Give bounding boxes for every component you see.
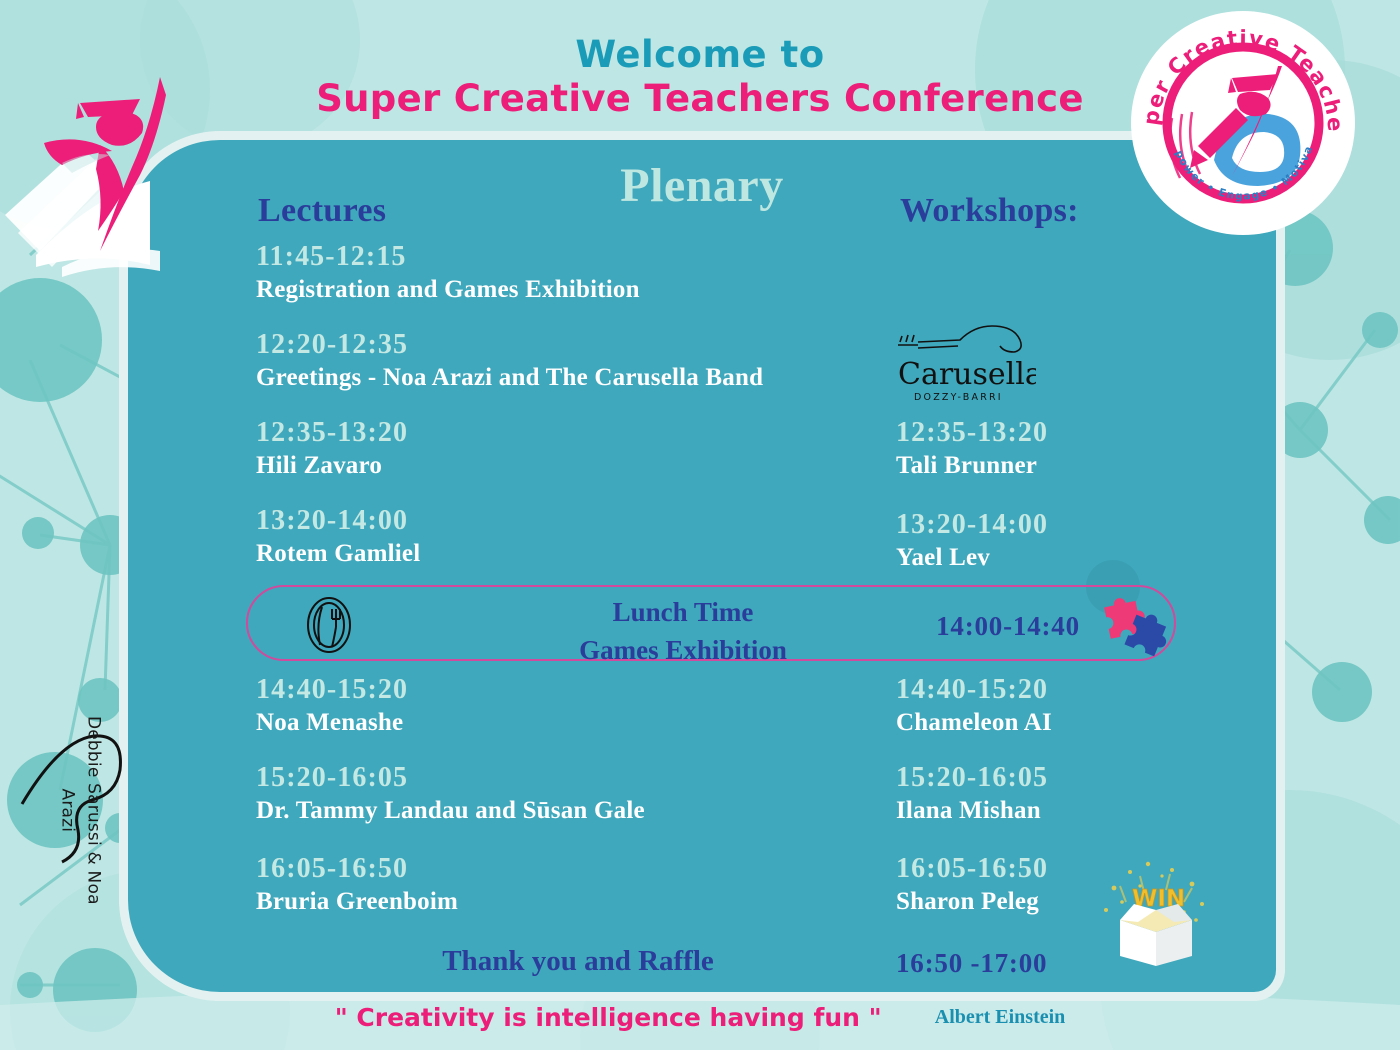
- lecture-row: 13:20-14:00 Rotem Gamliel: [256, 504, 896, 569]
- lecture-time: 15:20-16:05: [256, 761, 896, 795]
- lecture-row: 15:20-16:05 Dr. Tammy Landau and Sūsan G…: [256, 761, 896, 826]
- lecture-title: Noa Menashe: [256, 707, 896, 738]
- workshop-title: Chameleon AI: [896, 707, 1226, 738]
- lectures-column-header: Lectures: [258, 192, 386, 230]
- einstein-quote: " Creativity is intelligence having fun …: [335, 1003, 882, 1032]
- workshop-time: 13:20-14:00: [896, 508, 1226, 542]
- carusella-band-logo: Carusella DOZZY-BARRI: [896, 318, 1196, 413]
- lunch-line-1: Lunch Time: [448, 593, 918, 631]
- workshops-column-header: Workshops:: [900, 192, 1079, 230]
- workshop-row: 15:20-16:05 Ilana Mishan: [896, 761, 1226, 826]
- lecture-title: Hili Zavaro: [256, 450, 896, 481]
- lecture-row: 12:20-12:35 Greetings - Noa Arazi and Th…: [256, 328, 896, 393]
- lecture-time: 14:40-15:20: [256, 673, 896, 707]
- lecture-row: 11:45-12:15 Registration and Games Exhib…: [256, 240, 896, 305]
- lecture-time: 11:45-12:15: [256, 240, 896, 274]
- lunch-break-bar: Lunch Time Games Exhibition 14:00-14:40: [246, 585, 1176, 661]
- lecture-time: 12:35-13:20: [256, 416, 896, 450]
- lecture-time: 13:20-14:00: [256, 504, 896, 538]
- lecture-title: Bruria Greenboim: [256, 886, 896, 917]
- super-creative-teachers-logo: Super Creative Teachers Empower • Engage…: [1128, 8, 1358, 243]
- lecture-title: Rotem Gamliel: [256, 538, 896, 569]
- lecture-row: 16:05-16:50 Bruria Greenboim: [256, 852, 896, 917]
- workshop-time: 12:35-13:20: [896, 416, 1226, 450]
- workshop-row: 13:20-14:00 Yael Lev: [896, 508, 1226, 573]
- lunch-time: 14:00-14:40: [908, 611, 1108, 642]
- lecture-title: Greetings - Noa Arazi and The Carusella …: [256, 362, 896, 393]
- footer-quote-block: " Creativity is intelligence having fun …: [0, 1003, 1400, 1032]
- schedule-panel: Plenary Lectures Workshops: 11:45-12:15 …: [128, 140, 1276, 992]
- plate-fork-knife-icon: [296, 593, 362, 662]
- lunch-label: Lunch Time Games Exhibition: [448, 593, 918, 670]
- credits-block: Debbie Sarussi & Noa Arazi: [20, 712, 140, 922]
- closing-remarks: Thank you and Raffle: [258, 945, 898, 978]
- puzzle-pieces-icon: [1093, 593, 1173, 664]
- workshop-time: 14:40-15:20: [896, 673, 1226, 707]
- workshop-title: Yael Lev: [896, 542, 1226, 573]
- carusella-name: Carusella: [898, 357, 1036, 392]
- win-prize-box-icon: WIN: [1096, 858, 1216, 973]
- lecture-row: 12:35-13:20 Hili Zavaro: [256, 416, 896, 481]
- lunch-line-2: Games Exhibition: [448, 631, 918, 669]
- workshop-time: 15:20-16:05: [896, 761, 1226, 795]
- lecture-title: Dr. Tammy Landau and Sūsan Gale: [256, 795, 896, 826]
- lecture-time: 12:20-12:35: [256, 328, 896, 362]
- workshop-title: Tali Brunner: [896, 450, 1226, 481]
- workshop-row: 14:40-15:20 Chameleon AI: [896, 673, 1226, 738]
- workshop-title: Ilana Mishan: [896, 795, 1226, 826]
- lecture-title: Registration and Games Exhibition: [256, 274, 896, 305]
- lecture-time: 16:05-16:50: [256, 852, 896, 886]
- quote-attribution: Albert Einstein: [935, 1006, 1066, 1029]
- credits-names: Debbie Sarussi & Noa Arazi: [54, 702, 107, 918]
- lecture-row: 14:40-15:20 Noa Menashe: [256, 673, 896, 738]
- carusella-subtitle: DOZZY-BARRI: [914, 392, 1003, 403]
- workshop-row: 12:35-13:20 Tali Brunner: [896, 416, 1226, 481]
